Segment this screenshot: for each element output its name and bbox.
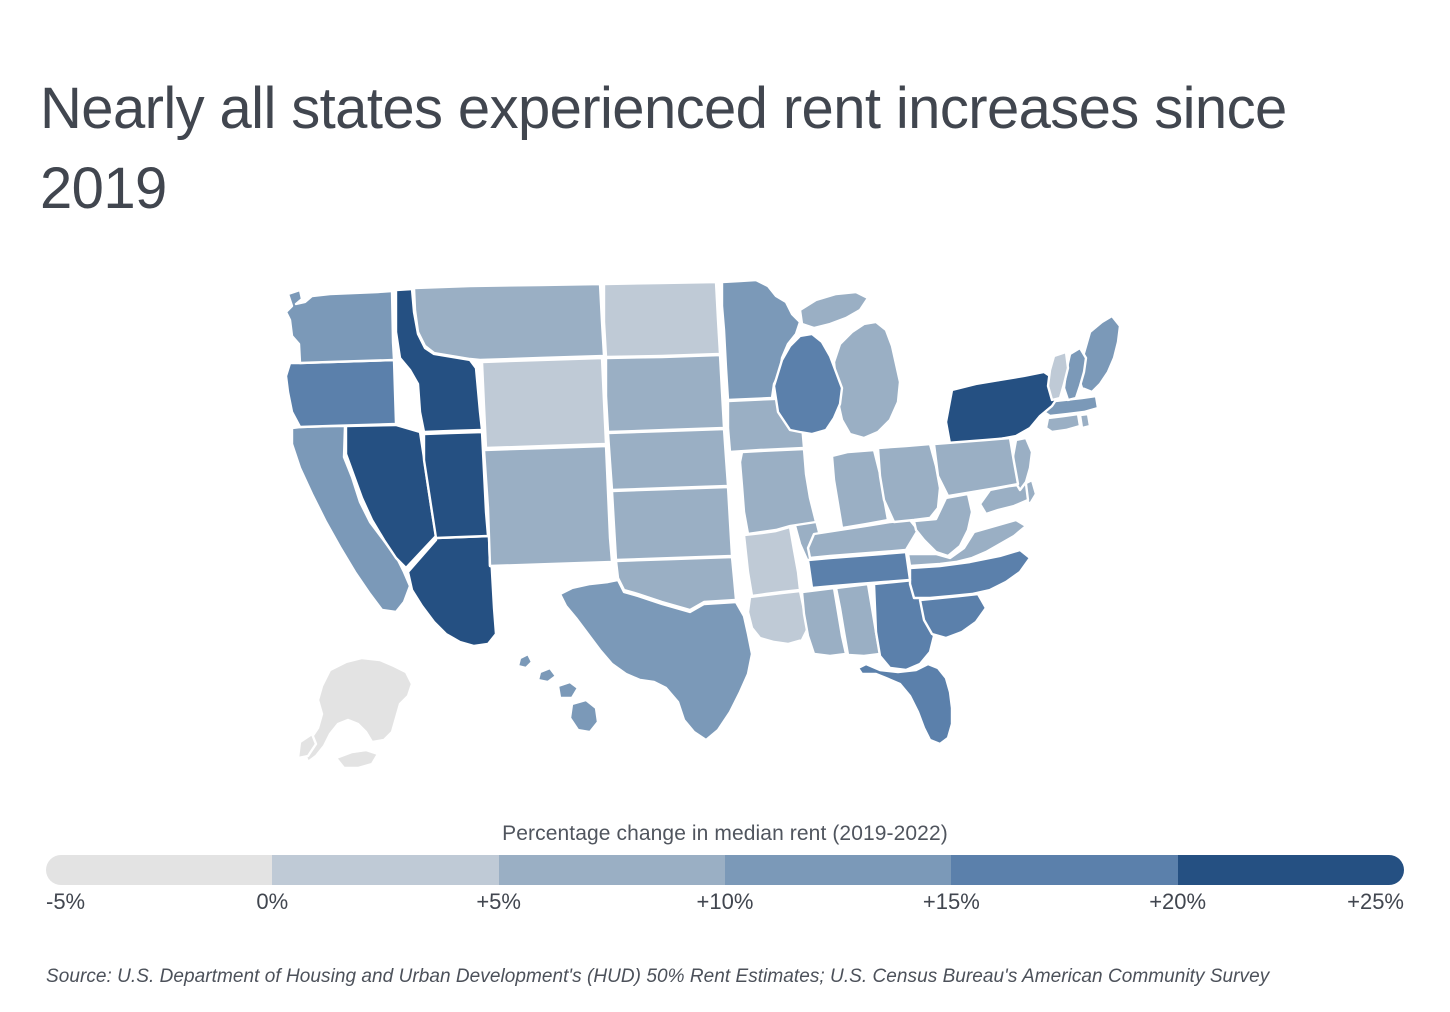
us-states-map-svg: Alabama: +7%Alaska: -2%Alaska: -2%Alaska… xyxy=(0,272,1450,817)
legend-tick-5: +20% xyxy=(1149,889,1206,915)
state-hi: Hawaii: +13% xyxy=(518,654,532,668)
state-ut: Utah: +22% xyxy=(424,432,488,538)
state-ny: New York: +21% xyxy=(946,372,1060,444)
choropleth-map: Alabama: +7%Alaska: -2%Alaska: -2%Alaska… xyxy=(0,272,1450,817)
state-or: Oregon: +17% xyxy=(286,360,396,427)
state-wy: Wyoming: +3% xyxy=(482,358,606,448)
state-fl: Florida: +18% xyxy=(858,664,952,744)
legend-tick-4: +15% xyxy=(923,889,980,915)
state-mi: Michigan: +9% xyxy=(834,322,900,438)
legend-band-0 xyxy=(46,855,272,885)
legend-caption: Percentage change in median rent (2019-2… xyxy=(0,822,1450,846)
state-sd: South Dakota: +9% xyxy=(606,355,724,432)
state-pa: Pennsylvania: +9% xyxy=(934,438,1018,496)
legend-tick-6: +25% xyxy=(1347,889,1404,915)
legend-band-2 xyxy=(499,855,725,885)
legend-band-5 xyxy=(1178,855,1404,885)
legend-band-4 xyxy=(951,855,1177,885)
legend-tick-3: +10% xyxy=(697,889,754,915)
legend-colorbar xyxy=(46,855,1404,885)
state-mo: Missouri: +8% xyxy=(740,449,816,534)
state-sc: South Carolina: +15% xyxy=(920,594,986,638)
legend-tick-labels: -5%0%+5%+10%+15%+20%+25% xyxy=(46,885,1404,919)
legend-tick-1: 0% xyxy=(256,889,288,915)
state-mt: Montana: +9% xyxy=(414,284,604,360)
legend: Percentage change in median rent (2019-2… xyxy=(0,822,1450,919)
state-ak-part3: Alaska: -2% xyxy=(336,750,378,768)
state-hi-part2: Hawaii: +13% xyxy=(538,668,556,682)
state-wa: Washington: +13% xyxy=(286,290,394,363)
legend-tick-2: +5% xyxy=(476,889,521,915)
state-ri: Rhode Island: +9% xyxy=(1080,414,1090,428)
state-ks: Kansas: +8% xyxy=(612,487,732,560)
states-layer: Alabama: +7%Alaska: -2%Alaska: -2%Alaska… xyxy=(286,280,1120,768)
state-nd: North Dakota: +3% xyxy=(604,282,720,357)
legend-tick-0: -5% xyxy=(46,889,85,915)
state-hi-part3: Hawaii: +13% xyxy=(558,682,578,698)
source-note: Source: U.S. Department of Housing and U… xyxy=(46,966,1269,988)
state-ar: Arkansas: +4% xyxy=(744,527,800,596)
state-nm: New Mexico: +7% xyxy=(484,446,612,566)
state-ak: Alaska: -2% xyxy=(304,658,412,762)
legend-band-1 xyxy=(272,855,498,885)
page-title: Nearly all states experienced rent incre… xyxy=(40,69,1420,229)
state-ne: Nebraska: +9% xyxy=(608,429,728,490)
state-la: Louisiana: +4% xyxy=(748,591,808,644)
state-hi-part4: Hawaii: +13% xyxy=(570,700,598,732)
legend-band-3 xyxy=(725,855,951,885)
state-mi-part2: Michigan: +9% xyxy=(800,292,868,328)
